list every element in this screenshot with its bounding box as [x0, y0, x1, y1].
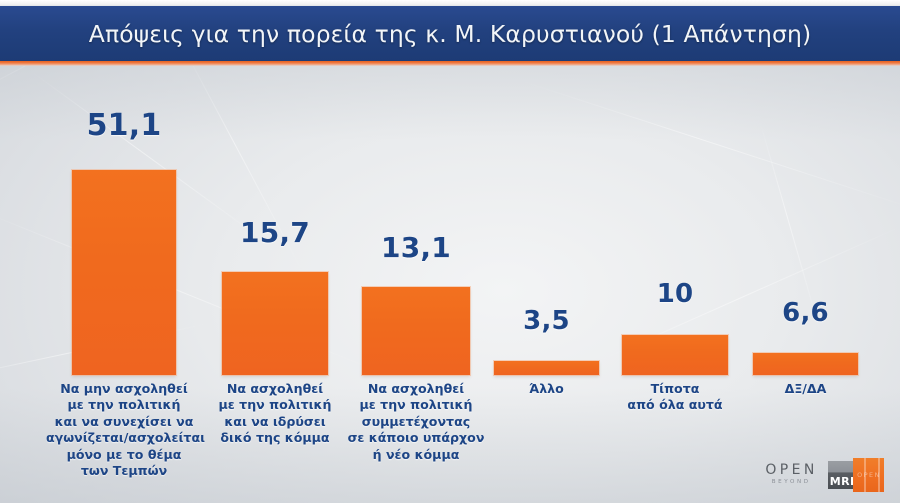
bar-rect-3[interactable] — [362, 287, 470, 375]
poll-chart-screenshot: Απόψεις για την πορεία της κ. Μ. Καρυστι… — [0, 0, 900, 503]
bar-label-line: των Τεμπών — [46, 463, 202, 479]
bar-value-4: 3,5 — [494, 306, 599, 336]
bar-label-line: σε κάποιο υπάρχον — [336, 430, 496, 446]
bar-rect-1[interactable] — [72, 170, 176, 375]
bar-rect-4[interactable] — [494, 361, 599, 375]
bar-value-2: 15,7 — [222, 216, 328, 249]
bar-value-6: 6,6 — [753, 298, 858, 328]
bar-value-1: 51,1 — [72, 108, 176, 143]
open-beyond-logo: OPEN BEYOND — [762, 463, 818, 486]
bar-label-line: και να συνεχίσει να — [46, 414, 202, 430]
bar-label-6: ΔΞ/ΔΑ — [727, 381, 884, 397]
bar-value-5: 10 — [622, 279, 728, 309]
logo-bar: OPEN BEYOND MRB OPEN — [762, 452, 894, 497]
bar-label-line: δικό της κόμμα — [196, 430, 354, 446]
bar-label-1: Να μην ασχοληθεί με την πολιτική και να … — [46, 381, 202, 479]
bar-label-line: αγωνίζεται/ασχολείται — [46, 430, 202, 446]
bar-label-line: με την πολιτική — [46, 397, 202, 413]
bar-label-line: ΔΞ/ΔΑ — [727, 381, 884, 397]
bar-group-6: 6,6 ΔΞ/ΔΑ — [753, 66, 858, 503]
bar-label-line: με την πολιτική — [336, 397, 496, 413]
bar-label-line: συμμετέχοντας — [336, 414, 496, 430]
bar-group-4: 3,5 Άλλο — [494, 66, 599, 503]
bar-rect-5[interactable] — [622, 335, 728, 375]
open-logo-tagline: BEYOND — [769, 480, 811, 486]
bar-value-3: 13,1 — [362, 231, 470, 264]
bar-chart: 51,1 Να μην ασχοληθεί με την πολιτική κα… — [0, 66, 900, 503]
bar-label-2: Να ασχοληθεί με την πολιτική και να ιδρύ… — [196, 381, 354, 447]
bar-group-1: 51,1 Να μην ασχοληθεί με την πολιτική κα… — [72, 66, 176, 503]
mrb-logo-overlay-word: OPEN — [855, 471, 882, 479]
mrb-logo: MRB OPEN — [828, 458, 884, 492]
bar-rect-6[interactable] — [753, 353, 858, 375]
bar-label-line: Να ασχοληθεί — [196, 381, 354, 397]
bar-group-2: 15,7 Να ασχοληθεί με την πολιτική και να… — [222, 66, 328, 503]
bar-label-line: από όλα αυτά — [596, 397, 754, 413]
bar-group-3: 13,1 Να ασχοληθεί με την πολιτική συμμετ… — [362, 66, 470, 503]
bar-label-line: και να ιδρύσει — [196, 414, 354, 430]
bar-label-line: με την πολιτική — [196, 397, 354, 413]
bar-group-5: 10 Τίποτα από όλα αυτά — [622, 66, 728, 503]
page-title: Απόψεις για την πορεία της κ. Μ. Καρυστι… — [0, 6, 900, 61]
open-logo-wordmark: OPEN — [762, 463, 818, 477]
bar-rect-2[interactable] — [222, 272, 328, 375]
bar-label-line: Να μην ασχοληθεί — [46, 381, 202, 397]
bar-label-line: ή νέο κόμμα — [336, 447, 496, 463]
bar-label-line: μόνο με το θέμα — [46, 447, 202, 463]
